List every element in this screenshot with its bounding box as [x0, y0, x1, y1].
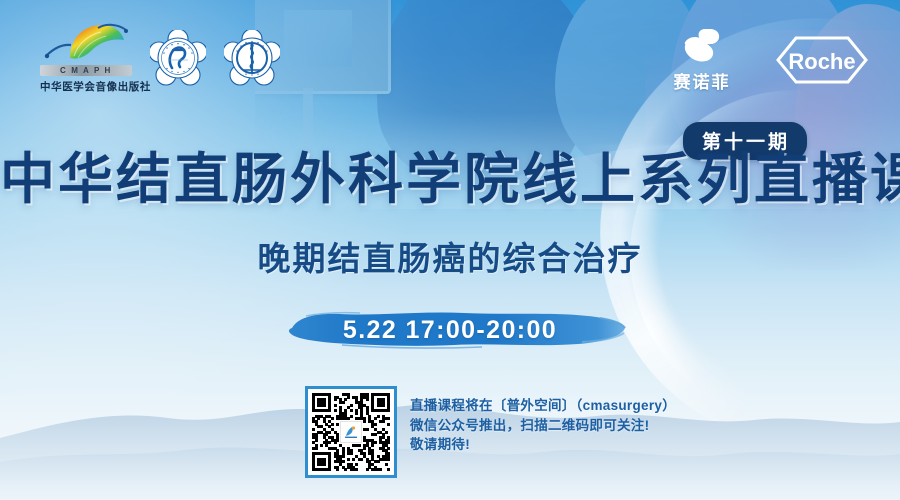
page-subtitle: 晚期结直肠癌的综合治疗 [0, 232, 900, 280]
page-title: 中华结直肠外科学院线上系列直播课 [0, 152, 900, 207]
roche-logo: Roche [774, 32, 870, 88]
sanofi-name: 赛诺菲 [656, 68, 748, 93]
notice-text: 直播课程将在〔普外空间〕（cmasurgery） 微信公众号推出，扫描二维码即可… [410, 396, 676, 455]
qr-code-icon[interactable] [305, 386, 397, 478]
schedule-banner: 5.22 17:00-20:00 [0, 302, 900, 364]
wechat-account-avatar-icon [340, 421, 362, 443]
qr-code-matrix [312, 393, 390, 471]
organizer-logo-row: C M A P H 中华医学会音像出版社 [40, 22, 280, 94]
sanofi-bird-icon [656, 26, 748, 66]
colorectal-seal-icon [150, 30, 206, 86]
cmaph-wordmark: C M A P H [40, 65, 132, 76]
notice-line-2: 微信公众号推出，扫描二维码即可关注! [410, 416, 676, 436]
cmaph-logo: C M A P H 中华医学会音像出版社 [40, 22, 132, 94]
sanofi-logo: 赛诺菲 [656, 26, 748, 93]
date-time-text: 5.22 17:00-20:00 [0, 316, 900, 345]
notice-line-3: 敬请期待! [410, 435, 676, 455]
sponsor-logo-row: 赛诺菲 Roche [656, 26, 870, 93]
cmaph-fan-icon [40, 22, 132, 64]
medical-association-seal-icon [224, 30, 280, 86]
notice-line-1: 直播课程将在〔普外空间〕（cmasurgery） [410, 396, 676, 416]
cmaph-wordmark-text: C M A P H [40, 65, 132, 76]
promo-banner: C M A P H 中华医学会音像出版社 [0, 0, 900, 500]
cmaph-chinese-name: 中华医学会音像出版社 [40, 79, 132, 94]
svg-text:Roche: Roche [788, 49, 855, 74]
